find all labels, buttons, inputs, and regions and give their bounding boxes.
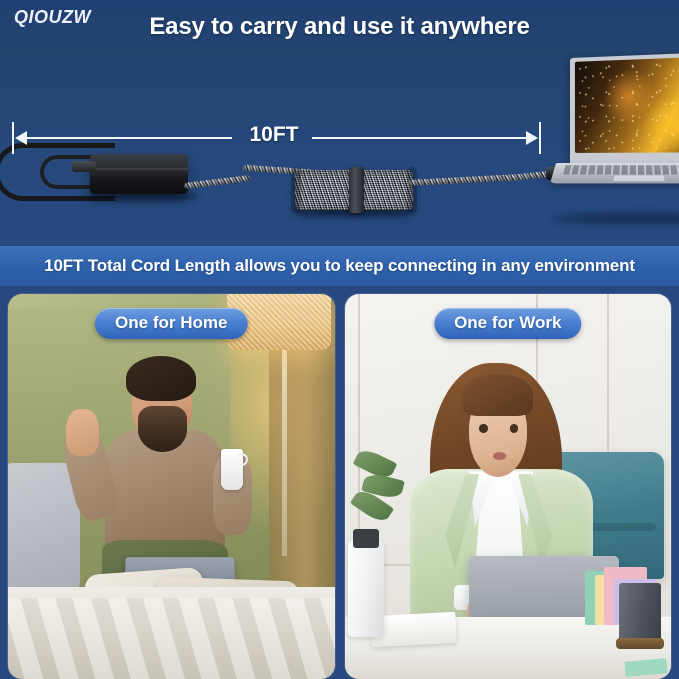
feature-banner: 10FT Total Cord Length allows you to kee… bbox=[0, 246, 679, 286]
pen-holder bbox=[619, 583, 661, 645]
measurement-line-left bbox=[20, 137, 232, 139]
product-infographic-page: QIOUZW Easy to carry and use it anywhere bbox=[0, 0, 679, 679]
person-eye bbox=[510, 424, 518, 432]
adapter-plug-connector bbox=[72, 161, 96, 172]
badge-one-for-home: One for Home bbox=[95, 308, 247, 339]
person-hair bbox=[126, 356, 197, 401]
page-title: Easy to carry and use it anywhere bbox=[0, 13, 679, 41]
measurement-indicator: 10FT bbox=[12, 122, 541, 156]
use-case-card-home: One for Home bbox=[8, 294, 335, 679]
person-beard bbox=[138, 406, 188, 451]
floor-lamp-pole bbox=[282, 346, 287, 556]
work-scene-photo bbox=[345, 294, 672, 679]
laptop-keyboard bbox=[563, 165, 679, 174]
person-hair-fringe bbox=[462, 374, 533, 416]
water-bottle bbox=[348, 540, 384, 636]
cushion bbox=[8, 463, 80, 594]
measurement-tick-right bbox=[539, 122, 541, 154]
use-case-card-work: One for Work bbox=[345, 294, 672, 679]
coffee-mug bbox=[221, 449, 244, 490]
arrow-right-icon bbox=[526, 131, 538, 145]
badge-one-for-work: One for Work bbox=[434, 308, 581, 339]
laptop-screen-wallpaper bbox=[575, 56, 679, 153]
feature-banner-text: 10FT Total Cord Length allows you to kee… bbox=[44, 256, 635, 276]
power-adapter-brick bbox=[90, 154, 188, 194]
bed-duvet bbox=[8, 587, 335, 679]
laptop-base bbox=[550, 163, 679, 183]
cable-velcro-strap bbox=[349, 167, 364, 213]
hero-section: QIOUZW Easy to carry and use it anywhere bbox=[0, 0, 679, 245]
measurement-line-right bbox=[312, 137, 536, 139]
hp-laptop: hp bbox=[534, 55, 679, 223]
measurement-label: 10FT bbox=[234, 123, 314, 147]
person-waving-hand bbox=[66, 409, 99, 457]
water-bottle-cap bbox=[353, 529, 379, 548]
laptop-shadow bbox=[552, 213, 679, 224]
measurement-tick-left bbox=[12, 122, 14, 154]
home-scene-photo bbox=[8, 294, 335, 679]
cable-segment bbox=[184, 175, 250, 189]
laptop-trackpad bbox=[612, 175, 665, 182]
laptop-lid: hp bbox=[570, 52, 679, 166]
person-eye bbox=[479, 424, 487, 432]
use-case-cards: One for Home bbox=[0, 294, 679, 679]
